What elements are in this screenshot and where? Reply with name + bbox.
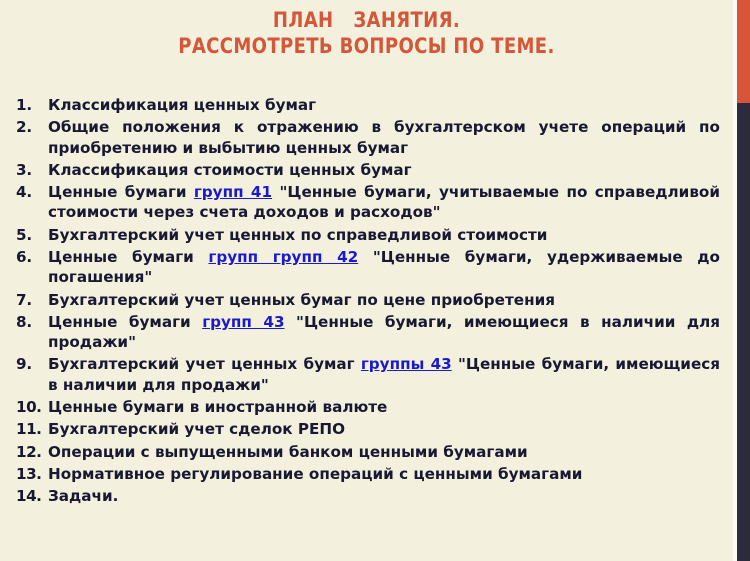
agenda-item-text: Бухгалтерский учет сделок РЕПО: [48, 419, 720, 439]
agenda-item: 13.Нормативное регулирование операций с …: [16, 464, 720, 484]
agenda-item: 8.Ценные бумаги групп 43 "Ценные бумаги,…: [16, 312, 720, 353]
agenda-item-text-segment: Классификация стоимости ценных бумаг: [48, 161, 412, 179]
agenda-item-number: 9.: [16, 354, 48, 374]
agenda-item-text: Ценные бумаги групп 41 "Ценные бумаги, у…: [48, 182, 720, 223]
agenda-item-number: 13.: [16, 464, 48, 484]
agenda-item-text: Операции с выпущенными банком ценными бу…: [48, 442, 720, 462]
agenda-item-text-segment: Задачи.: [48, 487, 118, 505]
agenda-item-text-segment: Ценные бумаги: [48, 248, 208, 266]
agenda-item: 12.Операции с выпущенными банком ценными…: [16, 442, 720, 462]
agenda-item-text-segment: Бухгалтерский учет сделок РЕПО: [48, 420, 345, 438]
presentation-slide: ПЛАН ЗАНЯТИЯ. РАССМОТРЕТЬ ВОПРОСЫ ПО ТЕМ…: [0, 0, 750, 561]
slide-title: ПЛАН ЗАНЯТИЯ. РАССМОТРЕТЬ ВОПРОСЫ ПО ТЕМ…: [0, 9, 733, 59]
agenda-item: 14.Задачи.: [16, 486, 720, 506]
agenda-item-text: Ценные бумаги групп 43 "Ценные бумаги, и…: [48, 312, 720, 353]
agenda-item-number: 3.: [16, 160, 48, 180]
agenda-list: 1.Классификация ценных бумаг2.Общие поло…: [0, 95, 733, 506]
agenda-item-text: Ценные бумаги в иностранной валюте: [48, 397, 720, 417]
agenda-item-number: 5.: [16, 225, 48, 245]
agenda-item-text: Нормативное регулирование операций с цен…: [48, 464, 720, 484]
agenda-item-number: 10.: [16, 397, 48, 417]
agenda-item-text-segment: Бухгалтерский учет ценных бумаг: [48, 355, 361, 373]
agenda-item-number: 14.: [16, 486, 48, 506]
agenda-item-text-segment: Нормативное регулирование операций с цен…: [48, 465, 582, 483]
agenda-item: 11.Бухгалтерский учет сделок РЕПО: [16, 419, 720, 439]
title-line-1: ПЛАН ЗАНЯТИЯ.: [59, 9, 675, 33]
agenda-item-link[interactable]: групп групп 42: [208, 248, 358, 266]
agenda-item-number: 7.: [16, 290, 48, 310]
agenda-item-number: 8.: [16, 312, 48, 332]
agenda-item-text-segment: Операции с выпущенными банком ценными бу…: [48, 443, 528, 461]
agenda-item: 7.Бухгалтерский учет ценных бумаг по цен…: [16, 290, 720, 310]
agenda-item-text-segment: Общие положения к отражению в бухгалтерс…: [48, 118, 720, 156]
agenda-item: 2.Общие положения к отражению в бухгалте…: [16, 117, 720, 158]
title-line-2: РАССМОТРЕТЬ ВОПРОСЫ ПО ТЕМЕ.: [59, 35, 675, 59]
agenda-item-text-segment: Ценные бумаги: [48, 183, 194, 201]
agenda-item-number: 11.: [16, 419, 48, 439]
agenda-item: 1.Классификация ценных бумаг: [16, 95, 720, 115]
agenda-item-text-segment: Ценные бумаги: [48, 313, 202, 331]
agenda-item-text-segment: Классификация ценных бумаг: [48, 96, 316, 114]
agenda-item-number: 2.: [16, 117, 48, 137]
agenda-item: 4.Ценные бумаги групп 41 "Ценные бумаги,…: [16, 182, 720, 223]
agenda-item-number: 1.: [16, 95, 48, 115]
agenda-item-link[interactable]: группы 43: [361, 355, 452, 373]
agenda-item-text-segment: Бухгалтерский учет ценных по справедливо…: [48, 226, 547, 244]
agenda-item-text-segment: Ценные бумаги в иностранной валюте: [48, 398, 387, 416]
agenda-item-text: Бухгалтерский учет ценных бумаг группы 4…: [48, 354, 720, 395]
agenda-item-text-segment: Бухгалтерский учет ценных бумаг по цене …: [48, 291, 555, 309]
agenda-item: 3.Классификация стоимости ценных бумаг: [16, 160, 720, 180]
agenda-item-text: Классификация стоимости ценных бумаг: [48, 160, 720, 180]
right-decorative-rail: [737, 0, 750, 561]
agenda-item-text: Общие положения к отражению в бухгалтерс…: [48, 117, 720, 158]
agenda-item-text: Ценные бумаги групп групп 42 "Ценные бум…: [48, 247, 720, 288]
agenda-item: 6.Ценные бумаги групп групп 42 "Ценные б…: [16, 247, 720, 288]
agenda-item-link[interactable]: групп 43: [202, 313, 284, 331]
rail-accent-segment: [737, 0, 750, 103]
agenda-item-text: Бухгалтерский учет ценных бумаг по цене …: [48, 290, 720, 310]
agenda-item-text: Бухгалтерский учет ценных по справедливо…: [48, 225, 720, 245]
agenda-item: 10.Ценные бумаги в иностранной валюте: [16, 397, 720, 417]
agenda-item-link[interactable]: групп 41: [194, 183, 272, 201]
agenda-item-text: Классификация ценных бумаг: [48, 95, 720, 115]
agenda-item-text: Задачи.: [48, 486, 720, 506]
agenda-item-number: 4.: [16, 182, 48, 202]
agenda-item-number: 6.: [16, 247, 48, 267]
agenda-item: 9.Бухгалтерский учет ценных бумаг группы…: [16, 354, 720, 395]
agenda-item: 5.Бухгалтерский учет ценных по справедли…: [16, 225, 720, 245]
agenda-item-number: 12.: [16, 442, 48, 462]
